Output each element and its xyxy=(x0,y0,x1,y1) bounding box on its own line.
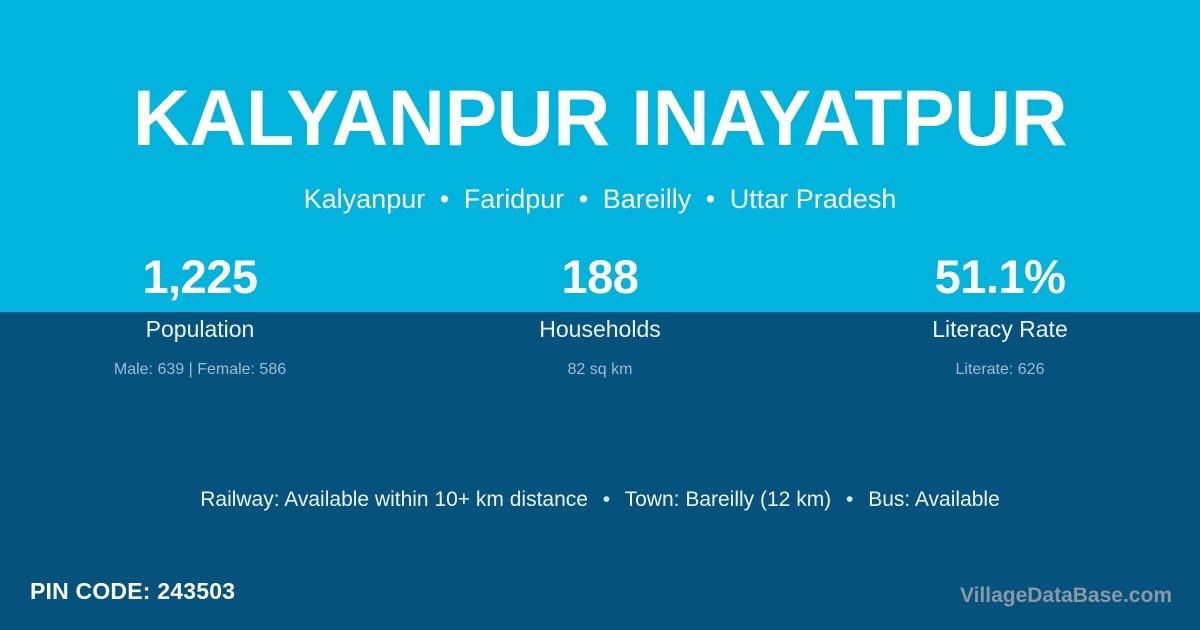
amenity-bus: Bus: Available xyxy=(868,488,1000,511)
breadcrumb: Kalyanpur • Faridpur • Bareilly • Uttar … xyxy=(0,183,1200,215)
stat-value: 188 xyxy=(400,248,800,306)
village-info-card: KALYANPUR INAYATPUR Kalyanpur • Faridpur… xyxy=(0,0,1200,630)
breadcrumb-item-state: Uttar Pradesh xyxy=(730,184,897,214)
breadcrumb-separator: • xyxy=(433,184,456,214)
breadcrumb-separator: • xyxy=(572,184,595,214)
pin-code-label: PIN CODE: 243503 xyxy=(30,577,235,605)
stat-label: Households xyxy=(400,312,800,346)
amenity-separator: • xyxy=(594,488,619,511)
stat-population: 1,225 Population Male: 639 | Female: 586 xyxy=(0,248,400,381)
breadcrumb-item-block: Faridpur xyxy=(464,184,565,214)
amenity-town: Town: Bareilly (12 km) xyxy=(625,488,832,511)
site-brand-watermark: VillageDataBase.com xyxy=(960,583,1172,609)
breadcrumb-separator: • xyxy=(699,184,722,214)
breadcrumb-item-district: Bareilly xyxy=(603,184,692,214)
stat-value: 51.1% xyxy=(800,248,1200,306)
stat-households: 188 Households 82 sq km xyxy=(400,248,800,381)
stat-label: Population xyxy=(0,312,400,346)
page-title: KALYANPUR INAYATPUR xyxy=(0,78,1200,157)
stats-row: 1,225 Population Male: 639 | Female: 586… xyxy=(0,248,1200,381)
stat-sub-detail: Literate: 626 xyxy=(800,359,1200,381)
amenities-line: Railway: Available within 10+ km distanc… xyxy=(0,487,1200,513)
stat-value: 1,225 xyxy=(0,248,400,306)
breadcrumb-item-village: Kalyanpur xyxy=(304,184,426,214)
stat-label: Literacy Rate xyxy=(800,312,1200,346)
stat-sub-detail: Male: 639 | Female: 586 xyxy=(0,359,400,381)
stat-sub-detail: 82 sq km xyxy=(400,359,800,381)
amenity-separator: • xyxy=(837,488,862,511)
amenity-railway: Railway: Available within 10+ km distanc… xyxy=(200,488,588,511)
stat-literacy-rate: 51.1% Literacy Rate Literate: 626 xyxy=(800,248,1200,381)
